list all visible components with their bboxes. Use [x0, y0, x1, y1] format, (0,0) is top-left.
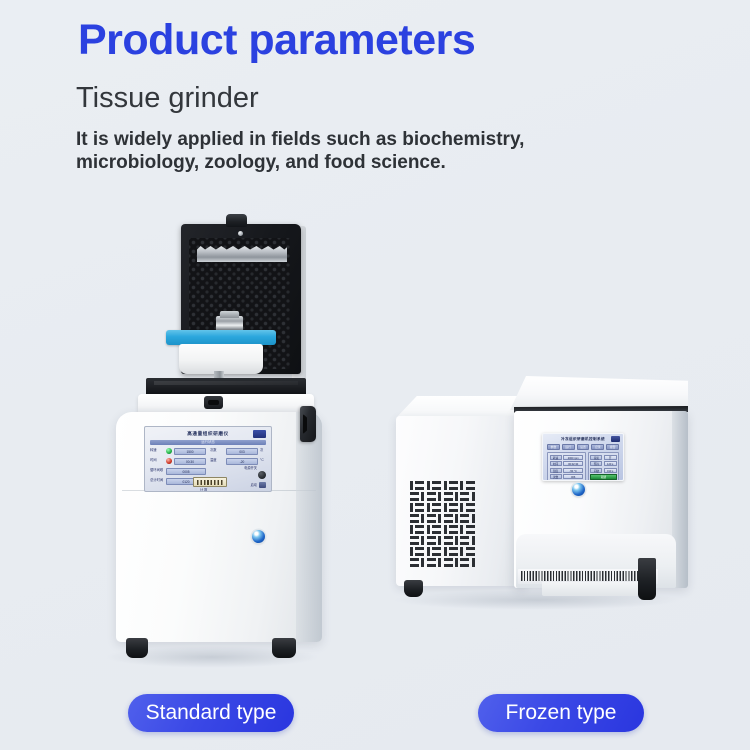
panel-value-field[interactable]: 003 [226, 448, 258, 455]
page-title: Product parameters [78, 16, 475, 65]
vent-slot [421, 558, 424, 567]
vent-slot [449, 481, 458, 490]
description-line-1: It is widely applied in fields such as b… [76, 128, 636, 151]
vent-slot [438, 536, 441, 545]
screen-param-label: 温度 [550, 468, 562, 473]
vent-row [410, 546, 510, 557]
vent-slot [444, 492, 453, 501]
panel-row[interactable]: 次数 003 次 [210, 447, 266, 455]
vent-row [410, 513, 510, 524]
product-name: Tissue grinder [76, 82, 259, 115]
indicator-lamp-green-icon [166, 448, 172, 454]
panel-row-label: 循环间歇 [150, 469, 164, 472]
vent-slot [466, 525, 475, 534]
condenser-cabinet [396, 416, 526, 586]
vent-row [410, 480, 510, 491]
screen-tab-bar: 参数运行设置记录报警 [547, 444, 619, 450]
vent-slot [466, 547, 475, 556]
product-image-frozen-type: 冷冻组织研磨机控制系统 参数运行设置记录报警 转速2000 rpm时间00:02… [392, 372, 694, 617]
screen-action-button[interactable]: 复位 [573, 481, 583, 482]
vent-slot [427, 492, 436, 501]
panel-row-label: 总计时间 [150, 479, 164, 482]
screen-action-button[interactable]: 启动 [550, 481, 560, 482]
machine-body: 高通量组织研磨仪 运行状态 转速 1500 时间 00:30 [116, 412, 322, 642]
vent-slot [460, 481, 463, 490]
power-switch-label: 电源开关 [244, 465, 257, 470]
vent-slot [460, 536, 469, 545]
lid-knob-icon[interactable] [226, 214, 247, 227]
vent-slot [438, 558, 441, 567]
panel-row[interactable]: 温度 -20 °C [210, 457, 266, 465]
panel-row-label: 时间 [150, 459, 164, 462]
screen-content: 转速2000 rpm时间00:02:30温度-50 °C次数006启动停止复位 … [547, 452, 619, 477]
vent-slot [432, 547, 441, 556]
screen-param-label: 次数 [550, 474, 562, 479]
brand-badge-icon [572, 483, 585, 496]
counter-display [193, 477, 227, 487]
vent-slot [472, 536, 475, 545]
screen-param-value[interactable]: 120 s [604, 461, 617, 466]
brand-badge-icon [252, 530, 265, 543]
control-panel[interactable]: 高通量组织研磨仪 运行状态 转速 1500 时间 00:30 [144, 426, 272, 492]
screen-button-row: 启动停止复位 [550, 481, 584, 482]
start-button[interactable] [259, 482, 266, 488]
vent-slot [449, 547, 458, 556]
screen-tab[interactable]: 运行 [562, 444, 575, 450]
vent-slot [438, 514, 441, 523]
panel-row-unit: °C [260, 459, 266, 462]
screen-param-label: 预冷 [590, 461, 602, 466]
vent-slot [455, 558, 458, 567]
machine-plinth [542, 582, 638, 596]
vent-slot [449, 503, 458, 512]
screen-logo-block [611, 436, 620, 442]
screen-param-row[interactable]: 预冷120 s [590, 461, 616, 466]
vent-slot [444, 481, 447, 490]
panel-value-field[interactable]: 0005 [166, 468, 206, 475]
screen-status-button[interactable]: 就绪 [590, 474, 616, 480]
screen-param-label: 液氮 [590, 455, 602, 460]
vent-slot [438, 492, 441, 501]
panel-value-field[interactable]: 1500 [174, 448, 206, 455]
vent-slot [444, 558, 453, 567]
screen-param-label: 间歇 [590, 468, 602, 473]
vent-slot [410, 558, 419, 567]
start-button-label: 启动 [251, 482, 257, 487]
vent-slot [427, 547, 430, 556]
tab-standard-type[interactable]: Standard type [128, 694, 294, 732]
vent-slot [455, 514, 458, 523]
vent-slot [421, 536, 424, 545]
vent-slot [427, 558, 436, 567]
vent-slot [427, 525, 430, 534]
vent-slot [460, 547, 463, 556]
panel-row[interactable]: 转速 1500 [150, 447, 206, 455]
vent-slot [410, 547, 413, 556]
lid-latch-icon[interactable] [204, 396, 223, 409]
vent-slot [410, 503, 413, 512]
vent-slot [460, 525, 463, 534]
machine-foot [272, 638, 296, 658]
screen-param-row[interactable]: 时间00:02:30 [550, 461, 584, 466]
panel-logo-block [253, 430, 266, 438]
description-line-2: microbiology, zoology, and food science. [76, 151, 636, 174]
vent-slot [421, 514, 424, 523]
product-description: It is widely applied in fields such as b… [76, 128, 636, 174]
vent-grille-icon [410, 480, 510, 568]
vent-slot [460, 558, 469, 567]
screen-param-value[interactable]: 006 [563, 474, 583, 479]
vent-slot [421, 492, 424, 501]
vent-slot [415, 525, 424, 534]
product-image-standard-type: 高通量组织研磨仪 运行状态 转速 1500 时间 00:30 [96, 208, 336, 653]
screen-param-value[interactable]: 开 [604, 455, 617, 460]
lid-screw-icon [238, 231, 243, 236]
vent-slot [449, 525, 458, 534]
panel-value-field[interactable]: 00:30 [174, 458, 206, 465]
screen-tab[interactable]: 参数 [547, 444, 560, 450]
vent-slot [466, 503, 475, 512]
lcd-touchscreen[interactable]: 冷冻组织研磨机控制系统 参数运行设置记录报警 转速2000 rpm时间00:02… [542, 433, 624, 481]
centrifuge-lid[interactable] [510, 376, 688, 410]
machine-foot [404, 580, 423, 597]
panel-row[interactable]: 循环间歇 0005 [150, 467, 206, 475]
vent-slot [410, 525, 413, 534]
vent-slot [472, 514, 475, 523]
vent-row [410, 557, 510, 568]
screen-param-row[interactable]: 间歇010 s [590, 468, 616, 473]
vent-slot [427, 503, 430, 512]
vent-slot [460, 514, 469, 523]
vent-row [410, 502, 510, 513]
vent-row [410, 535, 510, 546]
panel-value-field[interactable]: -20 [226, 458, 258, 465]
screen-param-row[interactable]: 次数006 [550, 474, 584, 479]
machine-foot [638, 558, 656, 600]
indicator-lamp-red-icon [166, 458, 172, 464]
product-parameters-banner: Product parameters Tissue grinder It is … [0, 0, 750, 750]
screen-param-row[interactable]: 温度-50 °C [550, 468, 584, 473]
screen-tab[interactable]: 记录 [591, 444, 604, 450]
condenser-cabinet-top [396, 396, 526, 418]
panel-row[interactable]: 时间 00:30 [150, 457, 206, 465]
vent-slot [415, 503, 424, 512]
screen-right-column: 液氮开预冷120 s间歇010 s就绪 [588, 452, 619, 481]
vent-slot [444, 525, 447, 534]
vent-slot [472, 492, 475, 501]
screen-param-label: 转速 [550, 455, 562, 460]
vent-slot [427, 514, 436, 523]
vent-slot [432, 503, 441, 512]
vent-slot [410, 536, 419, 545]
vent-slot [455, 492, 458, 501]
screen-param-row[interactable]: 转速2000 rpm [550, 455, 584, 460]
vent-slot [427, 481, 430, 490]
vent-row [410, 491, 510, 502]
panel-row-label: 次数 [210, 449, 224, 452]
machine-foot [126, 638, 148, 658]
vent-slot [432, 481, 441, 490]
vent-slot [427, 536, 436, 545]
vent-slot [455, 536, 458, 545]
screen-param-value[interactable]: -50 °C [563, 468, 583, 473]
power-switch-button[interactable] [258, 471, 266, 479]
vent-slot [460, 492, 469, 501]
screen-param-value[interactable]: 00:02:30 [563, 461, 583, 466]
panel-status-bar: 运行状态 [150, 440, 266, 445]
vent-slot [432, 525, 441, 534]
sample-holder-base [179, 344, 263, 374]
vent-slot [460, 503, 463, 512]
screen-param-row[interactable]: 液氮开 [590, 455, 616, 460]
vent-row [410, 524, 510, 535]
vent-slot [410, 481, 413, 490]
vent-slot [444, 503, 447, 512]
screen-tab[interactable]: 设置 [577, 444, 590, 450]
vent-slot [415, 481, 424, 490]
tab-frozen-type[interactable]: Frozen type [478, 694, 644, 732]
vent-slot [466, 481, 475, 490]
door-handle-icon[interactable] [300, 406, 316, 442]
vent-slot [415, 547, 424, 556]
vent-slot [410, 514, 419, 523]
screen-tab[interactable]: 报警 [606, 444, 619, 450]
vent-slot [444, 547, 447, 556]
counter-label: 计 数 [200, 487, 207, 492]
panel-row-unit: 次 [260, 449, 266, 452]
screen-param-value[interactable]: 2000 rpm [563, 455, 583, 460]
vent-slot [444, 536, 453, 545]
panel-row-label: 转速 [150, 449, 164, 452]
panel-row-label: 温度 [210, 459, 224, 462]
vent-slot [444, 514, 453, 523]
sample-holder-plate [166, 330, 276, 345]
screen-left-column: 转速2000 rpm时间00:02:30温度-50 °C次数006启动停止复位 [547, 452, 586, 481]
body-side-shading [296, 412, 322, 642]
screen-param-label: 时间 [550, 461, 562, 466]
vent-slot [410, 492, 419, 501]
screen-param-value[interactable]: 010 s [604, 468, 617, 473]
screen-action-button[interactable]: 停止 [561, 481, 571, 482]
vent-slot [472, 558, 475, 567]
